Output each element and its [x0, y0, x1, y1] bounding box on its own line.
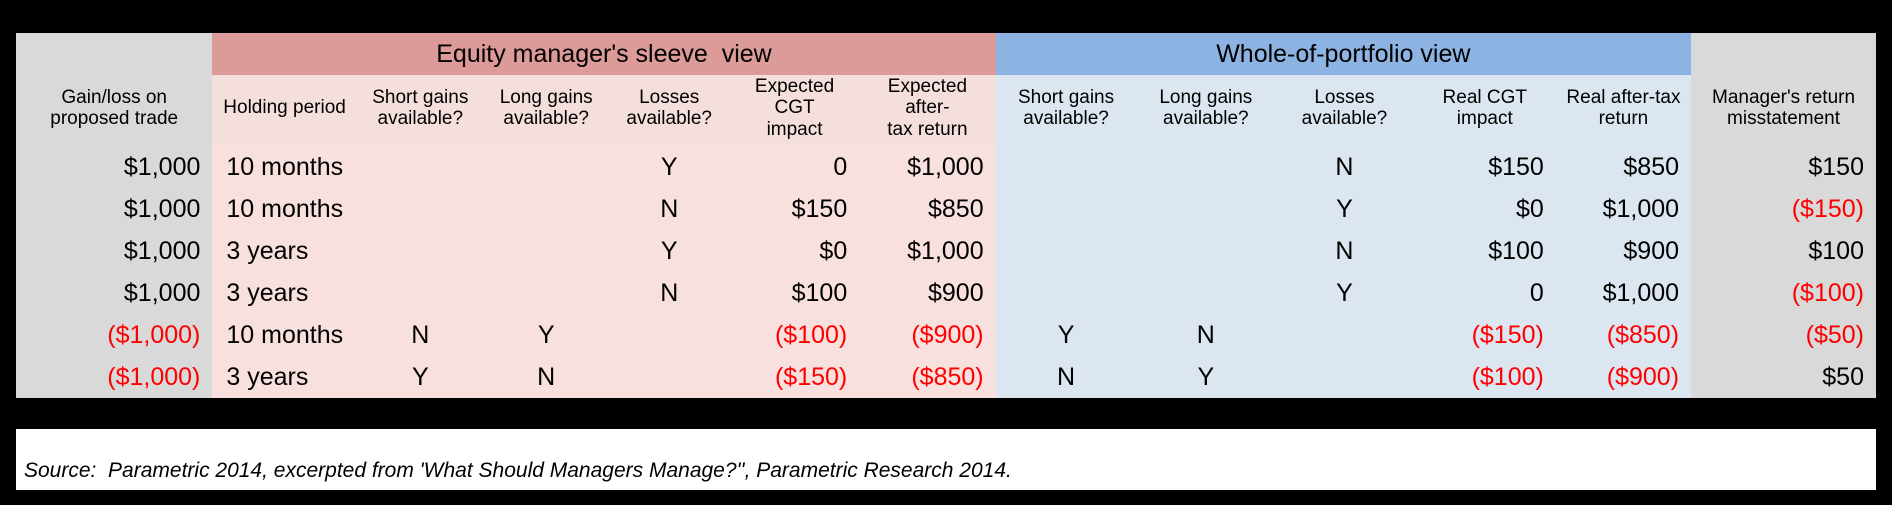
col-header-line1: Losses	[1281, 87, 1408, 108]
group-header-row: Equity manager's sleeve view Whole-of-po…	[16, 33, 1876, 75]
cell-eq-cgt-impact: ($150)	[730, 356, 859, 398]
col-header-expected-after-tax-return: Expected after- tax return	[859, 75, 995, 146]
col-header-equity-short-gains-available: Short gains available?	[357, 75, 484, 146]
cell-misstatement: $50	[1691, 356, 1876, 398]
col-header-line2: available?	[1143, 108, 1270, 129]
cell-wp-short-gains	[996, 188, 1137, 230]
table-row: $1,000 3 years Y $0 $1,000 N $100 $900 $…	[16, 230, 1876, 272]
col-header-line2: misstatement	[1697, 108, 1870, 129]
cell-gain-loss: ($1,000)	[16, 356, 212, 398]
cell-eq-cgt-impact: ($100)	[730, 314, 859, 356]
cell-wp-cgt-impact: ($150)	[1414, 314, 1556, 356]
cell-eq-short-gains	[357, 230, 484, 272]
table-row: $1,000 10 months Y 0 $1,000 N $150 $850 …	[16, 146, 1876, 188]
col-header-line1: Expected after-	[865, 76, 989, 119]
cell-gain-loss: $1,000	[16, 146, 212, 188]
col-header-line1: Short gains	[1002, 87, 1131, 108]
cell-eq-after-tax-return: ($900)	[859, 314, 995, 356]
cell-wp-short-gains: Y	[996, 314, 1137, 356]
col-header-line2: available?	[1002, 108, 1131, 129]
cell-wp-cgt-impact: 0	[1414, 272, 1556, 314]
col-header-holding-period: Holding period	[212, 75, 356, 146]
cell-eq-cgt-impact: $150	[730, 188, 859, 230]
cell-wp-short-gains: N	[996, 356, 1137, 398]
cell-eq-cgt-impact: $0	[730, 230, 859, 272]
band-left-blank	[16, 33, 212, 75]
cell-eq-losses	[609, 356, 730, 398]
col-header-line2: impact	[736, 119, 853, 140]
col-header-line2: available?	[615, 108, 724, 129]
cell-eq-after-tax-return: ($850)	[859, 356, 995, 398]
tax-comparison-table: Equity manager's sleeve view Whole-of-po…	[16, 33, 1876, 398]
cell-eq-long-gains	[484, 188, 609, 230]
cell-wp-long-gains: N	[1137, 314, 1276, 356]
cell-gain-loss: $1,000	[16, 188, 212, 230]
cell-wp-after-tax-return: $900	[1556, 230, 1691, 272]
cell-eq-short-gains	[357, 188, 484, 230]
cell-wp-cgt-impact: $0	[1414, 188, 1556, 230]
col-header-line1: Gain/loss on	[22, 87, 206, 108]
cell-eq-after-tax-return: $1,000	[859, 146, 995, 188]
col-header-line1: Losses	[615, 87, 724, 108]
table-row: ($1,000) 3 years Y N ($150) ($850) N Y (…	[16, 356, 1876, 398]
col-header-line1: Manager's return	[1697, 87, 1870, 108]
cell-wp-losses: N	[1275, 146, 1414, 188]
col-header-gain-loss-on-proposed-trade: Gain/loss on proposed trade	[16, 75, 212, 146]
col-header-managers-return-misstatement: Manager's return misstatement	[1691, 75, 1876, 146]
col-header-line2: tax return	[865, 119, 989, 140]
cell-wp-losses: Y	[1275, 272, 1414, 314]
cell-wp-after-tax-return: $1,000	[1556, 272, 1691, 314]
cell-eq-short-gains	[357, 272, 484, 314]
source-footer: Source: Parametric 2014, excerpted from …	[16, 452, 1876, 490]
cell-eq-after-tax-return: $900	[859, 272, 995, 314]
cell-gain-loss: $1,000	[16, 230, 212, 272]
col-header-portfolio-losses-available: Losses available?	[1275, 75, 1414, 146]
cell-misstatement: ($150)	[1691, 188, 1876, 230]
cell-wp-losses	[1275, 314, 1414, 356]
table-row: ($1,000) 10 months N Y ($100) ($900) Y N…	[16, 314, 1876, 356]
band-whole-of-portfolio-view: Whole-of-portfolio view	[996, 33, 1691, 75]
col-header-equity-long-gains-available: Long gains available?	[484, 75, 609, 146]
table-row: $1,000 10 months N $150 $850 Y $0 $1,000…	[16, 188, 1876, 230]
cell-wp-short-gains	[996, 230, 1137, 272]
cell-wp-short-gains	[996, 272, 1137, 314]
cell-eq-short-gains: N	[357, 314, 484, 356]
cell-eq-long-gains	[484, 146, 609, 188]
cell-eq-long-gains	[484, 272, 609, 314]
col-header-portfolio-long-gains-available: Long gains available?	[1137, 75, 1276, 146]
col-header-line2: return	[1562, 108, 1685, 129]
col-header-line2: proposed trade	[22, 108, 206, 129]
cell-wp-short-gains	[996, 146, 1137, 188]
cell-eq-losses: N	[609, 188, 730, 230]
cell-eq-long-gains: N	[484, 356, 609, 398]
cell-wp-long-gains	[1137, 188, 1276, 230]
cell-eq-losses	[609, 314, 730, 356]
cell-wp-long-gains	[1137, 230, 1276, 272]
cell-eq-losses: Y	[609, 146, 730, 188]
cell-wp-after-tax-return: $1,000	[1556, 188, 1691, 230]
cell-eq-short-gains	[357, 146, 484, 188]
col-header-line1: Real CGT	[1420, 87, 1550, 108]
col-header-line2: impact	[1420, 108, 1550, 129]
col-header-line1: Real after-tax	[1562, 87, 1685, 108]
cell-misstatement: $150	[1691, 146, 1876, 188]
cell-gain-loss: ($1,000)	[16, 314, 212, 356]
cell-eq-losses: Y	[609, 230, 730, 272]
cell-gain-loss: $1,000	[16, 272, 212, 314]
cell-eq-cgt-impact: $100	[730, 272, 859, 314]
cell-wp-cgt-impact: $150	[1414, 146, 1556, 188]
col-header-line2: Holding period	[218, 97, 350, 118]
cell-holding-period: 10 months	[212, 146, 356, 188]
cell-eq-losses: N	[609, 272, 730, 314]
table-row: $1,000 3 years N $100 $900 Y 0 $1,000 ($…	[16, 272, 1876, 314]
col-header-line2: available?	[490, 108, 603, 129]
cell-wp-losses: N	[1275, 230, 1414, 272]
band-equity-managers-sleeve-view: Equity manager's sleeve view	[212, 33, 995, 75]
cell-holding-period: 10 months	[212, 314, 356, 356]
cell-wp-long-gains	[1137, 272, 1276, 314]
cell-wp-long-gains: Y	[1137, 356, 1276, 398]
cell-eq-after-tax-return: $850	[859, 188, 995, 230]
cell-wp-after-tax-return: ($850)	[1556, 314, 1691, 356]
col-header-equity-losses-available: Losses available?	[609, 75, 730, 146]
slide-root: Equity manager's sleeve view Whole-of-po…	[0, 0, 1892, 505]
cell-holding-period: 10 months	[212, 188, 356, 230]
cell-wp-after-tax-return: ($900)	[1556, 356, 1691, 398]
col-header-line2: available?	[363, 108, 478, 129]
cell-misstatement: ($50)	[1691, 314, 1876, 356]
col-header-line1: Long gains	[490, 87, 603, 108]
cell-holding-period: 3 years	[212, 272, 356, 314]
cell-wp-cgt-impact: ($100)	[1414, 356, 1556, 398]
col-header-real-after-tax-return: Real after-tax return	[1556, 75, 1691, 146]
col-header-portfolio-short-gains-available: Short gains available?	[996, 75, 1137, 146]
cell-misstatement: ($100)	[1691, 272, 1876, 314]
cell-wp-losses: Y	[1275, 188, 1414, 230]
source-note: Source: Parametric 2014, excerpted from …	[16, 459, 1012, 483]
col-header-line1: Short gains	[363, 87, 478, 108]
table-bottom-spacer	[16, 429, 1876, 453]
column-header-row: Gain/loss on proposed trade Holding peri…	[16, 75, 1876, 146]
col-header-expected-cgt-impact: Expected CGT impact	[730, 75, 859, 146]
cell-holding-period: 3 years	[212, 230, 356, 272]
cell-eq-cgt-impact: 0	[730, 146, 859, 188]
cell-eq-after-tax-return: $1,000	[859, 230, 995, 272]
band-right-blank	[1691, 33, 1876, 75]
cell-eq-long-gains	[484, 230, 609, 272]
cell-wp-long-gains	[1137, 146, 1276, 188]
cell-eq-long-gains: Y	[484, 314, 609, 356]
col-header-line1: Expected CGT	[736, 76, 853, 119]
cell-eq-short-gains: Y	[357, 356, 484, 398]
cell-wp-after-tax-return: $850	[1556, 146, 1691, 188]
col-header-line2: available?	[1281, 108, 1408, 129]
cell-wp-cgt-impact: $100	[1414, 230, 1556, 272]
cell-misstatement: $100	[1691, 230, 1876, 272]
cell-wp-losses	[1275, 356, 1414, 398]
col-header-real-cgt-impact: Real CGT impact	[1414, 75, 1556, 146]
col-header-line1: Long gains	[1143, 87, 1270, 108]
cell-holding-period: 3 years	[212, 356, 356, 398]
